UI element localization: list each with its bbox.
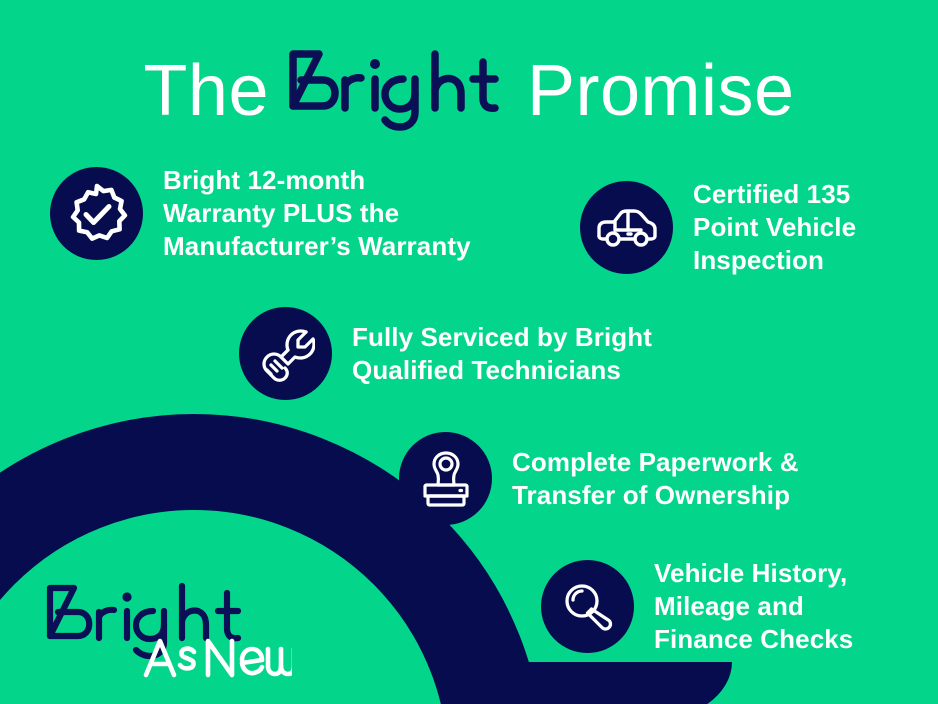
verified-badge-check-icon: [50, 167, 143, 260]
feature-paperwork: Complete Paperwork & Transfer of Ownersh…: [399, 432, 799, 525]
feature-servicing-label: Fully Serviced by Bright Qualified Techn…: [352, 321, 652, 387]
logo-secondary-asnew: [146, 641, 292, 675]
feature-history-checks-label: Vehicle History, Mileage and Finance Che…: [654, 557, 853, 656]
feature-inspection-label: Certified 135 Point Vehicle Inspection: [693, 178, 856, 277]
feature-warranty-label: Bright 12-month Warranty PLUS the Manufa…: [163, 164, 471, 263]
rubber-stamp-icon: [399, 432, 492, 525]
feature-inspection: Certified 135 Point Vehicle Inspection: [580, 178, 856, 277]
title-prefix: The: [143, 51, 269, 131]
magnifying-glass-icon: [541, 560, 634, 653]
feature-servicing: Fully Serviced by Bright Qualified Techn…: [239, 307, 652, 400]
navy-wedge-shape: [492, 662, 732, 704]
promise-graphic: The Promise: [0, 0, 938, 704]
feature-warranty: Bright 12-month Warranty PLUS the Manufa…: [50, 164, 471, 263]
feature-paperwork-label: Complete Paperwork & Transfer of Ownersh…: [512, 446, 799, 512]
logo-dot: [122, 592, 131, 601]
title-suffix: Promise: [527, 51, 795, 131]
page-title: The Promise: [0, 46, 938, 136]
hand-wrench-icon: [239, 307, 332, 400]
car-icon: [580, 181, 673, 274]
bright-wordmark-title: [279, 46, 517, 136]
feature-history-checks: Vehicle History, Mileage and Finance Che…: [541, 557, 853, 656]
brightasnew-logo: [42, 578, 292, 678]
